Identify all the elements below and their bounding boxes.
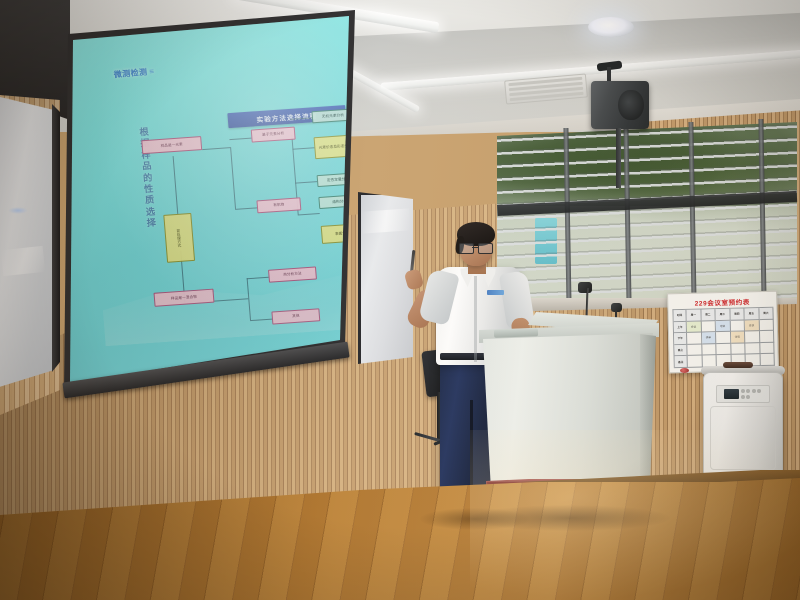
flow-node: 热分析方法 (268, 266, 317, 282)
flow-connector (295, 181, 317, 184)
schedule-cell[interactable] (688, 356, 703, 368)
flow-connector (229, 138, 251, 141)
schedule-cell[interactable] (716, 332, 731, 344)
schedule-column-header: 周一 (686, 310, 701, 322)
schedule-column-header: 时间 (673, 310, 686, 322)
flow-node: 基于元素分析 (251, 127, 296, 143)
pin-icon (680, 368, 689, 373)
schedule-cell[interactable]: 会议 (687, 321, 702, 333)
air-purifier-handle[interactable] (723, 362, 753, 368)
flow-node: 结构分析 (318, 194, 361, 209)
whiteboard-left-frame (52, 104, 60, 372)
schedule-cell[interactable] (702, 344, 717, 356)
schedule-row-header: 备注 (675, 356, 688, 368)
flow-connector (230, 147, 236, 209)
flow-node: 电感耦合等离子体 (374, 137, 421, 150)
flow-connector (298, 213, 320, 216)
flow-connector (235, 207, 257, 210)
schedule-cell[interactable] (760, 343, 775, 355)
presenter-pocket-logo (487, 290, 504, 295)
schedule-cell[interactable] (687, 333, 702, 345)
schedule-cell[interactable] (745, 331, 760, 343)
schedule-cell[interactable]: 讨论 (731, 332, 746, 344)
schedule-cell[interactable] (701, 321, 716, 333)
flow-node: 定性定量分析 (317, 172, 360, 187)
flow-node: 有机物 (256, 197, 301, 213)
schedule-cell[interactable] (745, 343, 760, 355)
schedule-cell[interactable]: 会议 (745, 320, 760, 332)
schedule-column-header: 周六 (759, 308, 774, 320)
flow-connector (292, 147, 314, 150)
flow-connector (173, 156, 179, 214)
whiteboard-reflection (1, 246, 45, 276)
schedule-cell[interactable] (760, 354, 775, 366)
eyeglasses-icon (459, 243, 493, 252)
gooseneck-microphone-head (578, 282, 592, 293)
schedule-cell[interactable]: 评审 (702, 332, 717, 344)
flow-node: 样品是一元素 (141, 136, 202, 154)
schedule-cell[interactable]: 培训 (716, 320, 731, 332)
flow-node: 原子吸收光谱法 (375, 156, 422, 169)
slide-logo-text: 微测检测 (113, 67, 147, 79)
schedule-row-header: 下午 (674, 333, 687, 345)
ceiling-mounted-speaker (591, 81, 649, 129)
schedule-cell[interactable] (716, 344, 731, 356)
whiteboard-reflection (361, 208, 410, 233)
schedule-row-header: 晚上 (674, 345, 687, 357)
presenter-shirt-placket (474, 276, 477, 362)
flow-connector (247, 277, 269, 280)
schedule-row-header: 上午 (674, 321, 687, 333)
air-purifier-buttons[interactable] (741, 389, 763, 399)
air-purifier-control-panel[interactable] (716, 385, 770, 403)
flow-connector (202, 147, 230, 150)
schedule-board-grid: 时间周一周二周三周四周五周六上午会议培训会议下午评审讨论晚上备注 (672, 307, 774, 368)
projected-slide: 微测检测≡ 根据样品的性质选择 实验方法选择流程 样品是 (45, 10, 355, 390)
schedule-board[interactable]: 229会议室预约表 时间周一周二周三周四周五周六上午会议培训会议下午评审讨论晚上… (667, 291, 779, 374)
conference-room-photo: 229会议室预约表 时间周一周二周三周四周五周六上午会议培训会议下午评审讨论晚上… (0, 0, 800, 600)
schedule-cell[interactable] (730, 320, 745, 332)
schedule-column-header: 周五 (744, 308, 759, 320)
slide-logo: 微测检测≡ (113, 66, 155, 80)
window-bars (497, 122, 797, 310)
flow-node: 前处理方式 (163, 213, 195, 263)
schedule-cell[interactable] (759, 331, 774, 343)
whiteboard-reflection (8, 207, 28, 214)
slide-logo-mark: ≡ (149, 67, 155, 76)
schedule-cell[interactable] (759, 319, 774, 331)
speaker-support-pole (616, 128, 621, 188)
schedule-column-header: 周二 (701, 309, 716, 321)
schedule-cell[interactable] (687, 344, 702, 356)
whiteboard-left[interactable] (0, 88, 58, 388)
schedule-cell[interactable] (731, 343, 746, 355)
lectern-control-strip[interactable] (494, 328, 538, 338)
schedule-column-header: 周四 (730, 308, 745, 320)
flow-leaf-text: 离子色谱法 (379, 174, 396, 179)
air-purifier-display (724, 389, 739, 399)
recessed-ceiling-light-icon (588, 17, 634, 37)
schedule-column-header: 周三 (715, 309, 730, 321)
floor-light-pool (470, 430, 800, 600)
